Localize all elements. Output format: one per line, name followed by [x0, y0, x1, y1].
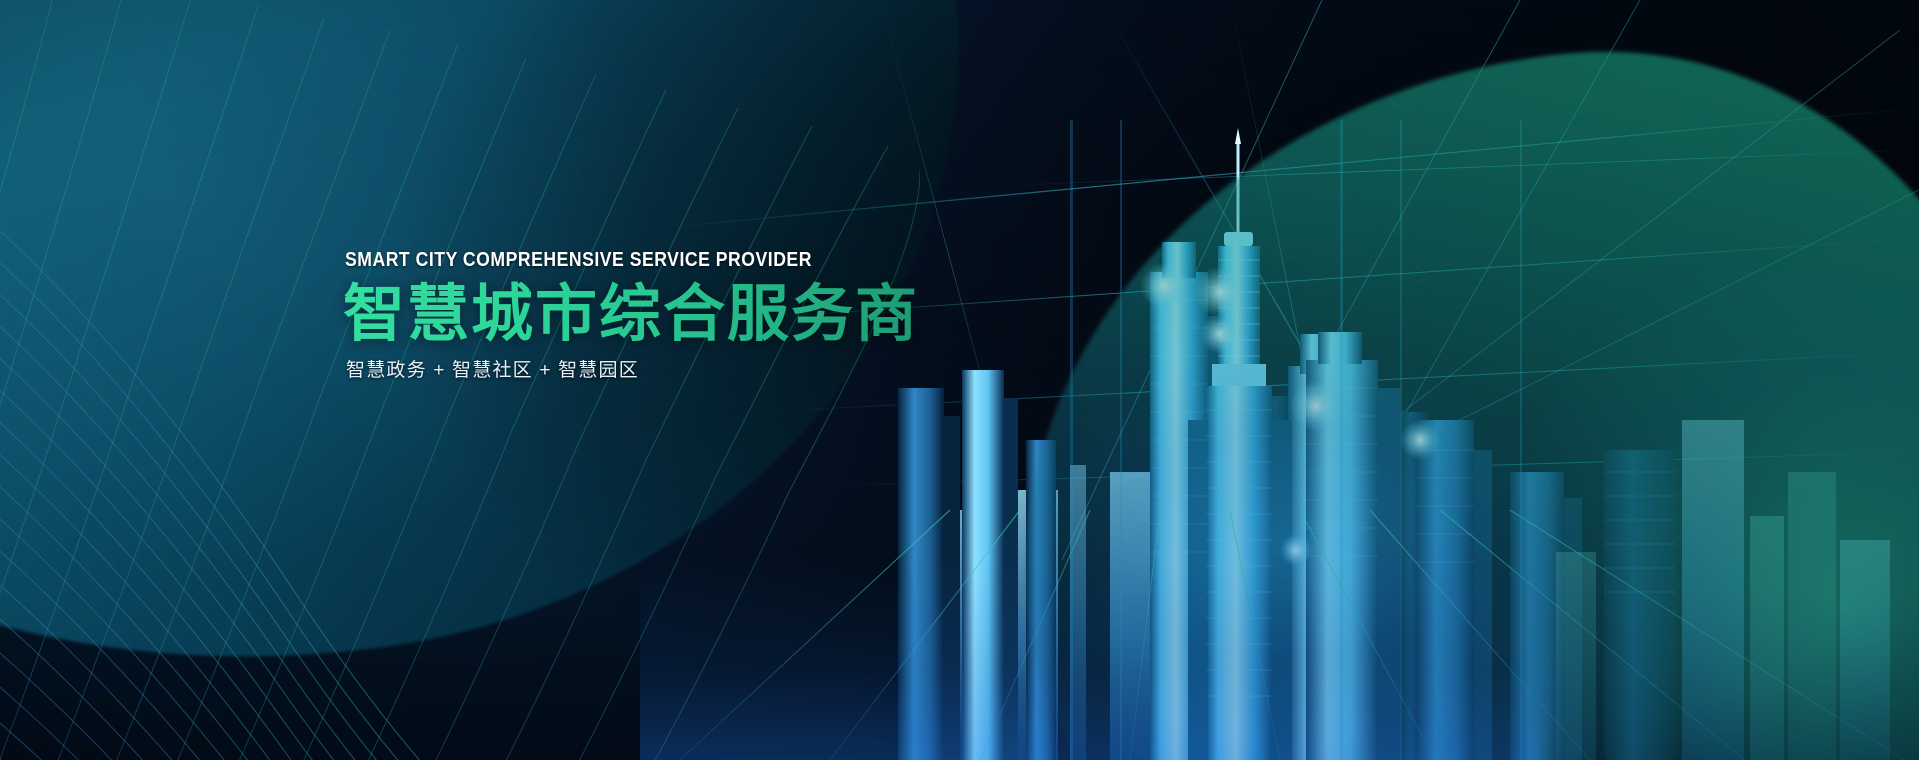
hero-eyebrow: SMART CITY COMPREHENSIVE SERVICE PROVIDE… — [345, 250, 1012, 270]
hero-headline: 智慧城市综合服务商 — [343, 280, 1103, 349]
hero-copy: SMART CITY COMPREHENSIVE SERVICE PROVIDE… — [343, 250, 1103, 382]
hero-banner: SMART CITY COMPREHENSIVE SERVICE PROVIDE… — [0, 0, 1919, 760]
hero-subline: 智慧政务 + 智慧社区 + 智慧园区 — [346, 355, 1103, 382]
